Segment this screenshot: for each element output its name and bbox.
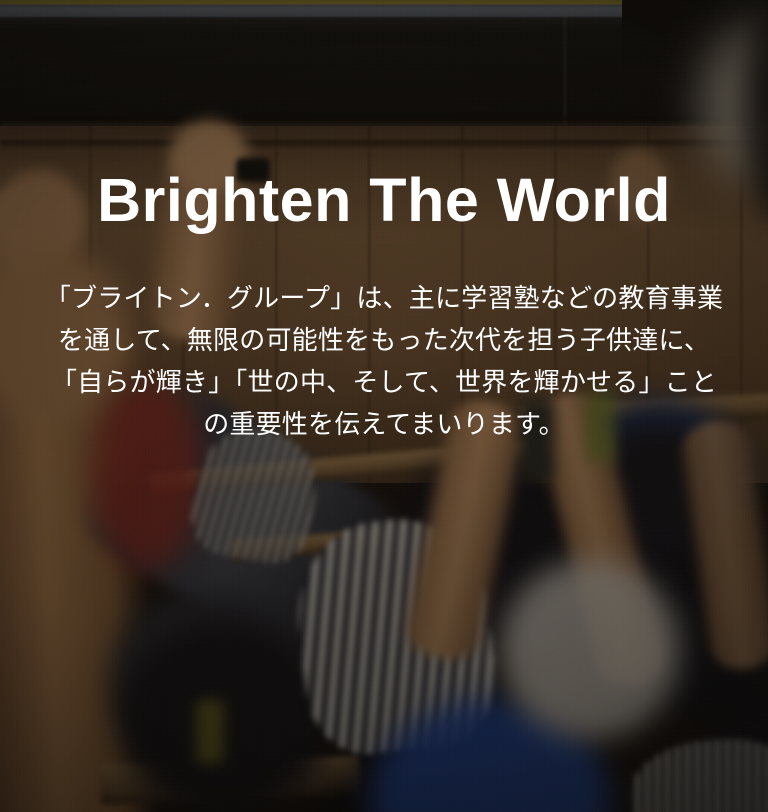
striped-shirt-lower-right [625, 731, 768, 812]
white-shirt-center [500, 560, 680, 740]
hero-section: Brighten The World 「ブライトン．グループ」は、主に学習塾など… [0, 0, 768, 812]
hero-description: 「ブライトン．グループ」は、主に学習塾などの教育事業 を通して、無限の可能性をも… [0, 277, 768, 445]
hero-description-line-2: を通して、無限の可能性をもった次代を担う子供達に、 [38, 319, 730, 361]
student-head-1 [120, 620, 330, 812]
page-title: Brighten The World [0, 168, 768, 232]
title-body-spacer [0, 232, 768, 277]
hero-description-line-3: 「自らが輝き」「世の中、そして、世界を輝かせる」こと [38, 361, 730, 403]
bottle-lower-left [196, 700, 224, 764]
hero-description-line-4: の重要性を伝えてまいります。 [38, 403, 730, 445]
hero-description-line-1: 「ブライトン．グループ」は、主に学習塾などの教育事業 [38, 277, 730, 319]
hero-copy-block: Brighten The World 「ブライトン．グループ」は、主に学習塾など… [0, 0, 768, 445]
